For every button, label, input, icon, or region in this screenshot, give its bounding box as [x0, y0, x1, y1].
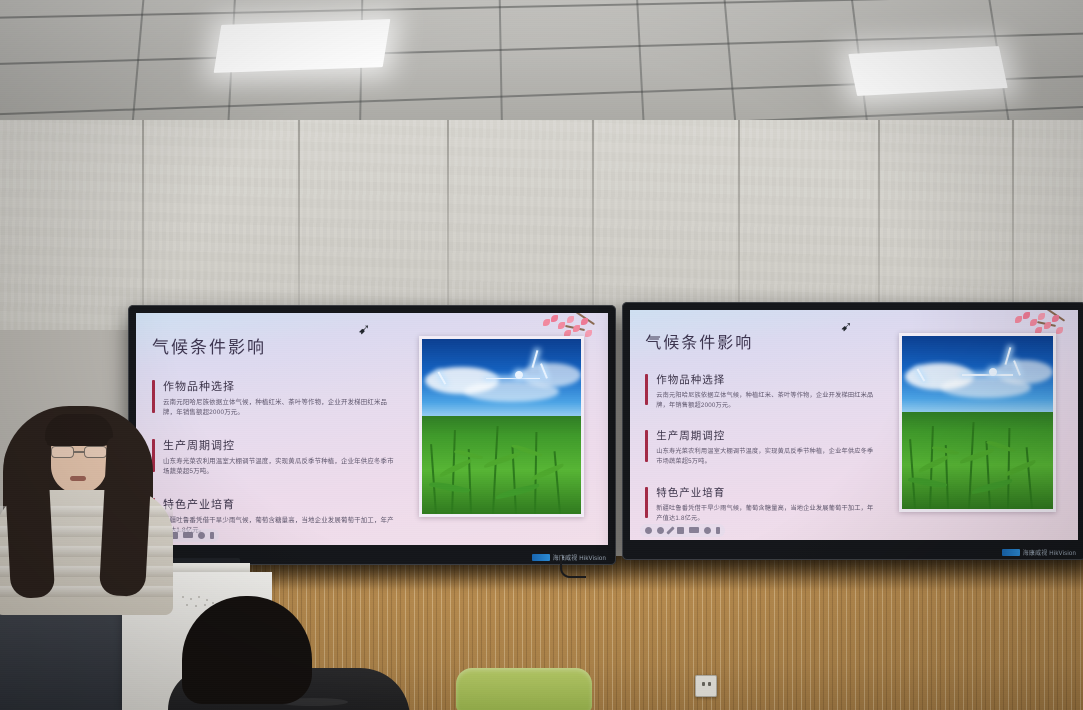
previous-slide-icon[interactable] [645, 527, 652, 534]
presenter-hair-left [3, 437, 55, 599]
display-left-screen[interactable]: 气候条件影响 作物品种选择 云南元阳哈尼族依据立体气候，种植红米、茶叶等作物，企… [136, 313, 608, 545]
zoom-icon[interactable] [704, 527, 711, 534]
display-right[interactable]: 气候条件影响 作物品种选择 云南元阳哈尼族依据立体气候，种植红米、茶叶等作物，企… [622, 302, 1083, 560]
pen-icon[interactable] [666, 526, 674, 534]
next-slide-icon[interactable] [657, 527, 664, 534]
bullet-heading: 生产周期调控 [163, 437, 398, 453]
list-item: 作物品种选择 云南元阳哈尼族依据立体气候，种植红米、茶叶等作物，企业开发梯田红米… [645, 372, 879, 411]
more-options-icon[interactable] [210, 532, 214, 539]
list-item: 生产周期调控 山东寿光菜农利用温室大棚调节温度，实现黄瓜反季节种植，企业年供应冬… [645, 428, 879, 467]
presenter-fringe [45, 414, 113, 446]
slide-right: 气候条件影响 作物品种选择 云南元阳哈尼族依据立体气候，种植红米、茶叶等作物，企… [630, 310, 1078, 540]
list-item: 作物品种选择 云南元阳哈尼族依据立体气候，种植红米、茶叶等作物，企业开发梯田红米… [152, 378, 398, 419]
wall-texture [0, 120, 1083, 330]
display-cable [560, 556, 586, 578]
bullet-list: 作物品种选择 云南元阳哈尼族依据立体气候，种植红米、茶叶等作物，企业开发梯田红米… [645, 372, 879, 524]
more-options-icon[interactable] [716, 527, 720, 534]
green-chair[interactable] [456, 668, 592, 710]
glasses-icon [51, 446, 107, 458]
power-outlet[interactable] [695, 675, 717, 697]
bullet-heading: 作物品种选择 [163, 378, 398, 394]
bullet-body: 云南元阳哈尼族依据立体气候，种植红米、茶叶等作物，企业开发梯田红米品牌，年销售额… [163, 398, 398, 419]
bullet-heading: 生产周期调控 [656, 428, 879, 443]
bullet-list: 作物品种选择 云南元阳哈尼族依据立体气候，种植红米、茶叶等作物，企业开发梯田红米… [152, 378, 398, 537]
drop-ceiling [0, 0, 1083, 132]
ceiling-light-panel-right [848, 46, 1007, 96]
presentation-toolbar[interactable] [640, 524, 725, 537]
ceiling-light-panel-left [214, 19, 391, 73]
display-right-screen[interactable]: 气候条件影响 作物品种选择 云南元阳哈尼族依据立体气候，种植红米、茶叶等作物，企… [630, 310, 1078, 540]
display-left[interactable]: 气候条件影响 作物品种选择 云南元阳哈尼族依据立体气候，种植红米、茶叶等作物，企… [128, 305, 616, 565]
cornfield-region [422, 416, 581, 514]
seated-audience-member [168, 596, 418, 710]
bullet-heading: 作物品种选择 [656, 372, 879, 387]
list-item: 生产周期调控 山东寿光菜农利用温室大棚调节温度，实现黄瓜反季节种植，企业年供应冬… [152, 437, 398, 478]
cornfield-lightning-photo [419, 336, 584, 517]
classroom-presentation-scene: 气候条件影响 作物品种选择 云南元阳哈尼族依据立体气候，种植红米、茶叶等作物，企… [0, 0, 1083, 710]
swallow-icon: ➹ [841, 319, 853, 333]
zoom-icon[interactable] [198, 532, 205, 539]
student-presenter [0, 398, 185, 613]
laser-pointer-icon[interactable] [677, 527, 684, 534]
hik-logo-icon [532, 554, 550, 561]
brand-label: 海康威视 HikVision [1023, 548, 1076, 557]
slide-thumbnails-icon[interactable] [689, 527, 699, 533]
sky-region [902, 336, 1053, 416]
audience-head [182, 596, 312, 704]
cornfield-lightning-photo [899, 333, 1056, 512]
bullet-heading: 特色产业培育 [163, 496, 398, 512]
swallow-icon: ➹ [358, 322, 371, 337]
bullet-body: 新疆吐鲁番凭借干旱少雨气候，葡萄含糖量高，当地企业发展葡萄干加工，年产值达1.8… [656, 504, 879, 524]
display-right-brand: 海康威视 HikVision [1002, 548, 1076, 557]
bullet-body: 山东寿光菜农利用温室大棚调节温度，实现黄瓜反季节种植，企业年供应冬季市场蔬菜超5… [656, 447, 879, 467]
presenter-hair-right [99, 437, 153, 597]
bullet-heading: 特色产业培育 [656, 485, 879, 500]
sky-region [422, 339, 581, 419]
slide-left: 气候条件影响 作物品种选择 云南元阳哈尼族依据立体气候，种植红米、茶叶等作物，企… [136, 313, 608, 545]
list-item: 特色产业培育 新疆吐鲁番凭借干旱少雨气候，葡萄含糖量高，当地企业发展葡萄干加工，… [645, 485, 879, 524]
cornfield-region [902, 412, 1053, 509]
bullet-body: 云南元阳哈尼族依据立体气候，种植红米、茶叶等作物，企业开发梯田红米品牌，年销售额… [656, 391, 879, 411]
hik-logo-icon [1002, 549, 1020, 556]
presenter-mouth [70, 476, 86, 481]
bullet-body: 山东寿光菜农利用温室大棚调节温度，实现黄瓜反季节种植，企业年供应冬季市场蔬菜超5… [163, 457, 398, 478]
acoustic-wall-panels [0, 120, 1083, 330]
